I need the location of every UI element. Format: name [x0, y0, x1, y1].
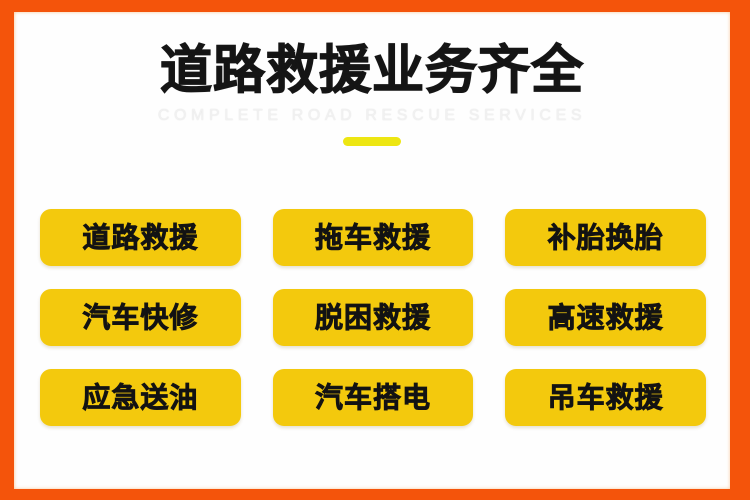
service-chip-jump-start[interactable]: 汽车搭电 — [273, 369, 474, 426]
service-chip-label: 脱困救援 — [315, 304, 431, 332]
service-chip-label: 道路救援 — [82, 224, 198, 252]
service-chip-label: 补胎换胎 — [548, 224, 664, 252]
service-chip-road-rescue[interactable]: 道路救援 — [40, 209, 241, 266]
service-chip-label: 汽车搭电 — [315, 384, 431, 412]
service-grid: 道路救援 拖车救援 补胎换胎 汽车快修 脱困救援 高速救援 应急送油 汽车搭电 — [40, 209, 706, 426]
accent-bar-container — [14, 137, 730, 146]
service-chip-crane-rescue[interactable]: 吊车救援 — [505, 369, 706, 426]
service-chip-emergency-fuel-delivery[interactable]: 应急送油 — [40, 369, 241, 426]
service-chip-tire-repair-replace[interactable]: 补胎换胎 — [505, 209, 706, 266]
service-chip-label: 应急送油 — [82, 384, 198, 412]
service-chip-label: 汽车快修 — [82, 304, 198, 332]
page-subtitle: COMPLETE ROAD RESCUE SERVICES — [14, 107, 730, 125]
poster-header: 道路救援业务齐全 COMPLETE ROAD RESCUE SERVICES — [14, 44, 730, 146]
poster-canvas: 道路救援业务齐全 COMPLETE ROAD RESCUE SERVICES 道… — [14, 12, 730, 489]
service-chip-label: 拖车救援 — [315, 224, 431, 252]
poster-frame: 道路救援业务齐全 COMPLETE ROAD RESCUE SERVICES 道… — [0, 0, 750, 500]
page-title: 道路救援业务齐全 — [14, 44, 730, 98]
service-chip-quick-car-repair[interactable]: 汽车快修 — [40, 289, 241, 346]
service-chip-tow-rescue[interactable]: 拖车救援 — [273, 209, 474, 266]
service-chip-highway-rescue[interactable]: 高速救援 — [505, 289, 706, 346]
accent-bar — [343, 137, 401, 146]
service-chip-label: 高速救援 — [548, 304, 664, 332]
service-chip-extrication-rescue[interactable]: 脱困救援 — [273, 289, 474, 346]
service-chip-label: 吊车救援 — [548, 384, 664, 412]
